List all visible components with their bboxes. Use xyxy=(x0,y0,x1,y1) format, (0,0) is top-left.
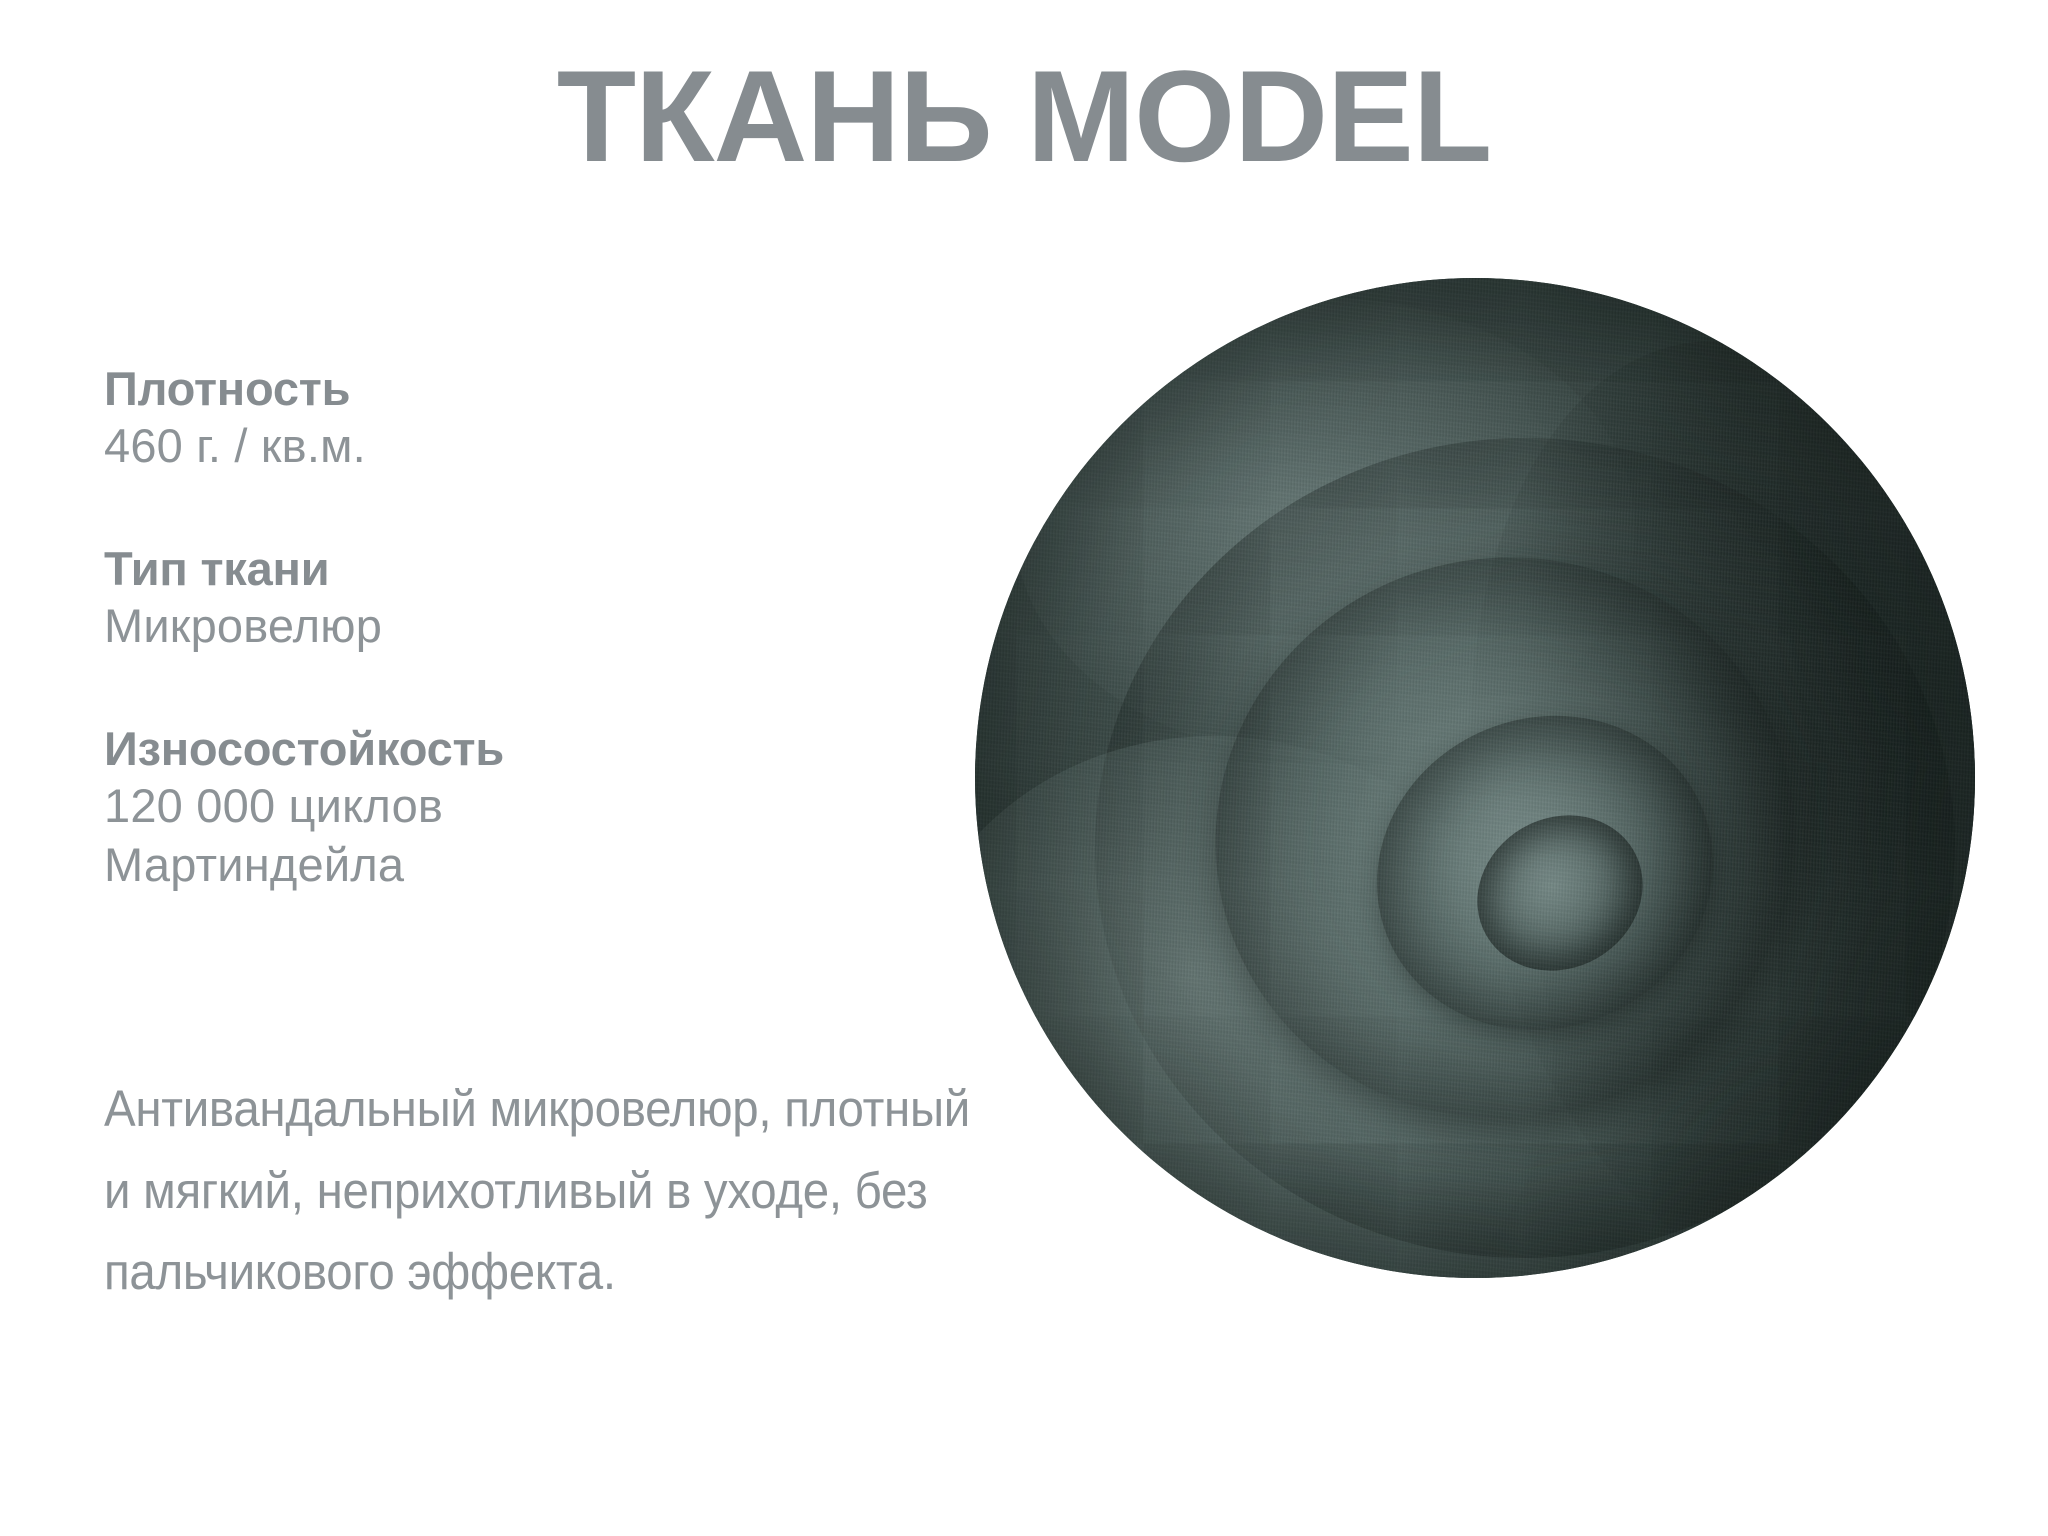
spec-label-fabric-type: Тип ткани xyxy=(104,540,924,597)
fabric-photo-circle xyxy=(975,278,1975,1278)
page-title: ТКАНЬ MODEL xyxy=(0,48,2048,185)
spec-item-fabric-type: Тип ткани Микровелюр xyxy=(104,540,924,656)
fabric-photo-image xyxy=(975,278,1975,1278)
fabric-description: Антивандальный микровелюр, плотный и мяг… xyxy=(104,1068,978,1313)
spec-item-density: Плотность 460 г. / кв.м. xyxy=(104,360,924,476)
spec-value-durability: 120 000 циклов Мартиндейла xyxy=(104,777,744,895)
spec-value-fabric-type: Микровелюр xyxy=(104,597,924,656)
spec-value-density: 460 г. / кв.м. xyxy=(104,417,924,476)
spec-item-durability: Износостойкость 120 000 циклов Мартиндей… xyxy=(104,720,924,895)
spec-label-density: Плотность xyxy=(104,360,924,417)
photo-vignette xyxy=(975,278,1975,1278)
spec-list: Плотность 460 г. / кв.м. Тип ткани Микро… xyxy=(104,360,924,895)
spec-label-durability: Износостойкость xyxy=(104,720,924,777)
fabric-spec-slide: ТКАНЬ MODEL Плотность 460 г. / кв.м. Тип… xyxy=(0,0,2048,1536)
